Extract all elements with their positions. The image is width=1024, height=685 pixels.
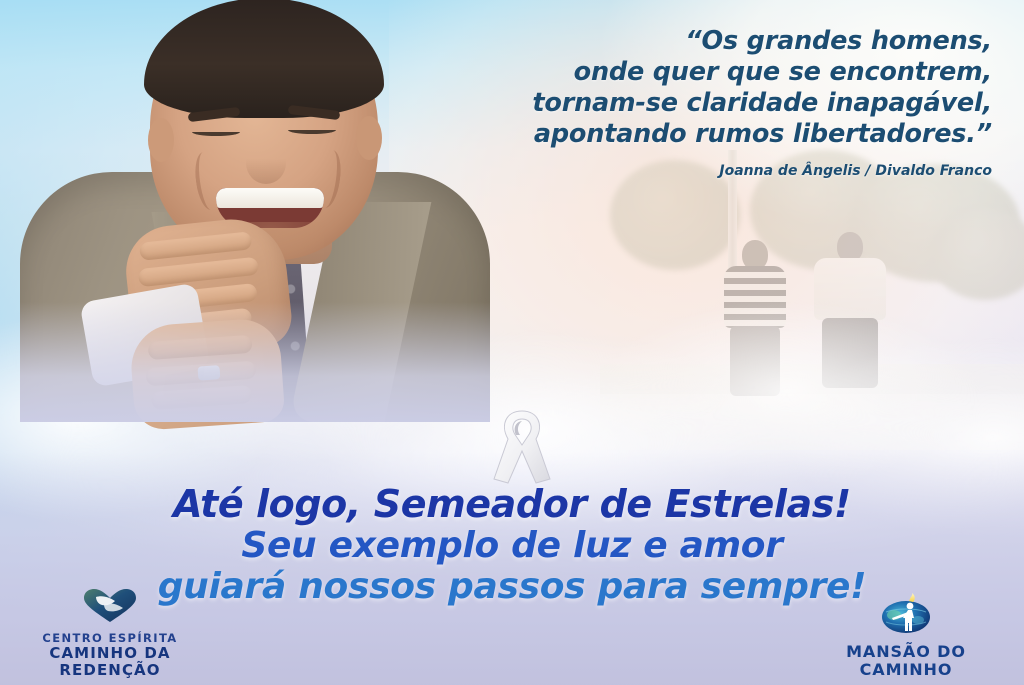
quote-line-3: tornam-se claridade inapagável, (392, 88, 992, 119)
centro-espirita-line-2: CAMINHO DA REDENÇÃO (12, 645, 208, 679)
globe-figure-flame-logo-icon (800, 593, 1012, 640)
quote-line-2: onde quer que se encontrem, (392, 57, 992, 88)
headline-line-1: Até logo, Semeador de Estrelas! (0, 484, 1024, 525)
centro-espirita-logo: CENTRO ESPÍRITA CAMINHO DA REDENÇÃO (12, 588, 208, 679)
quote-line-4: apontando rumos libertadores.” (392, 119, 992, 150)
mansao-do-caminho-label: MANSÃO DO CAMINHO (800, 643, 1012, 679)
quote-block: “Os grandes homens, onde quer que se enc… (392, 26, 992, 179)
mansao-do-caminho-logo: MANSÃO DO CAMINHO (800, 593, 1012, 679)
memorial-poster: “Os grandes homens, onde quer que se enc… (0, 0, 1024, 685)
white-mourning-ribbon-icon (486, 405, 558, 487)
headline-line-2: Seu exemplo de luz e amor (0, 525, 1024, 566)
quote-line-1: “Os grandes homens, (392, 26, 992, 57)
heart-hands-logo-icon (12, 588, 208, 629)
quote-attribution: Joanna de Ângelis / Divaldo Franco (392, 163, 992, 179)
